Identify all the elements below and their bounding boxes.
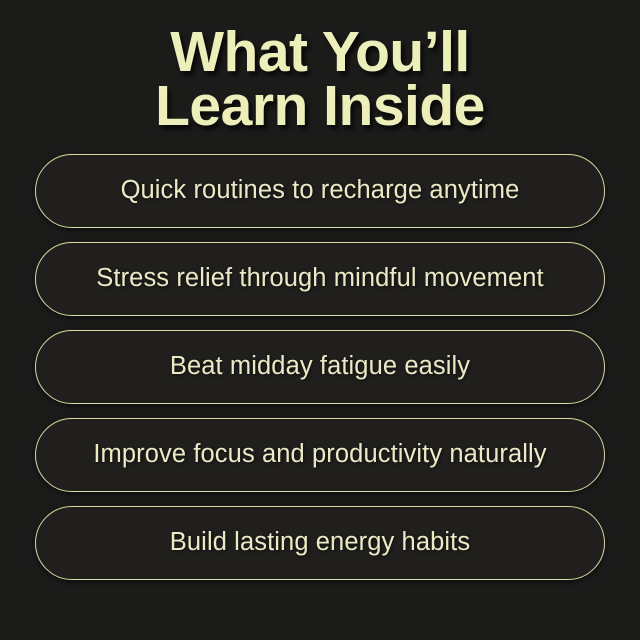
page-title-line-2: Learn Inside [0,80,640,133]
poster-canvas: What You’ll Learn Inside Quick routines … [0,0,640,640]
benefit-list: Quick routines to recharge anytime Stres… [35,154,605,580]
list-item-label: Improve focus and productivity naturally [93,442,546,468]
list-item-5[interactable]: Build lasting energy habits [35,506,605,580]
list-item-3[interactable]: Beat midday fatigue easily [35,330,605,404]
list-item-label: Quick routines to recharge anytime [121,178,520,204]
list-item-label: Build lasting energy habits [170,530,470,556]
list-item-4[interactable]: Improve focus and productivity naturally [35,418,605,492]
page-title-line-1: What You’ll [0,26,640,79]
list-item-1[interactable]: Quick routines to recharge anytime [35,154,605,228]
list-item-label: Stress relief through mindful movement [96,266,543,292]
list-item-label: Beat midday fatigue easily [170,354,470,380]
list-item-2[interactable]: Stress relief through mindful movement [35,242,605,316]
page-title: What You’ll Learn Inside [0,26,640,133]
